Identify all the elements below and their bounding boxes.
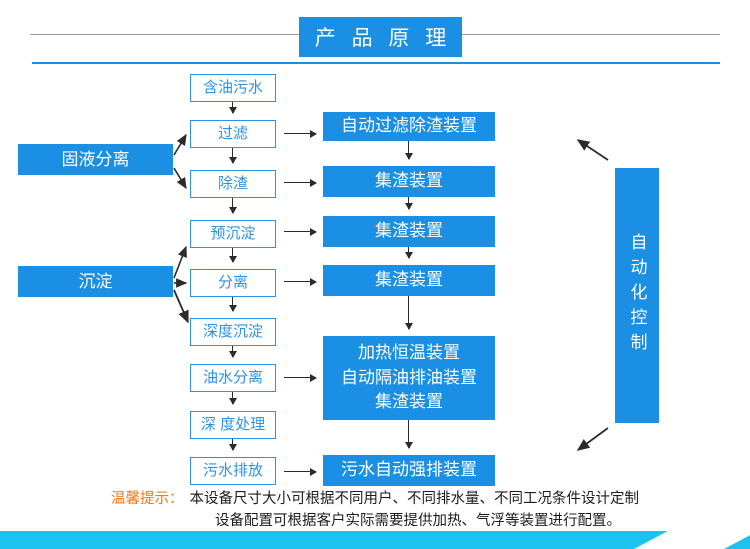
note-second-line: 设备配置可根据客户实际需要提供加热、气浮等装置进行配置。 [0,510,750,532]
arrow-sedimentation-to-deep-sedimentation [174,290,188,322]
product-principle-diagram-page: 产 品 原 理 含油污水 过滤 除渣 预沉淀 分离 深度沉淀 油水分离 深 度处… [0,0,750,549]
bottom-accent-bar [0,531,750,549]
note-label: 温馨提示： [111,488,184,510]
note-line-1: 本设备尺寸大小可根据不同用户、不同排水量、不同工况条件设计定制 [190,488,640,510]
note-line-2: 设备配置可根据客户实际需要提供加热、气浮等装置进行配置。 [215,510,621,532]
footer-note: 温馨提示： 本设备尺寸大小可根据不同用户、不同排水量、不同工况条件设计定制 设备… [0,488,750,533]
note-first-line: 温馨提示： 本设备尺寸大小可根据不同用户、不同排水量、不同工况条件设计定制 [0,488,750,510]
bottom-bar-notch [634,531,750,549]
arrow-solid-liquid-to-slag-removal [174,168,186,188]
diagonal-arrow-group [0,0,750,549]
arrow-automation-control-lower [578,428,608,450]
arrow-solid-liquid-to-filtration [174,135,186,155]
arrow-sedimentation-to-pre-sedimentation [174,247,186,278]
arrow-automation-control-upper [578,140,608,160]
